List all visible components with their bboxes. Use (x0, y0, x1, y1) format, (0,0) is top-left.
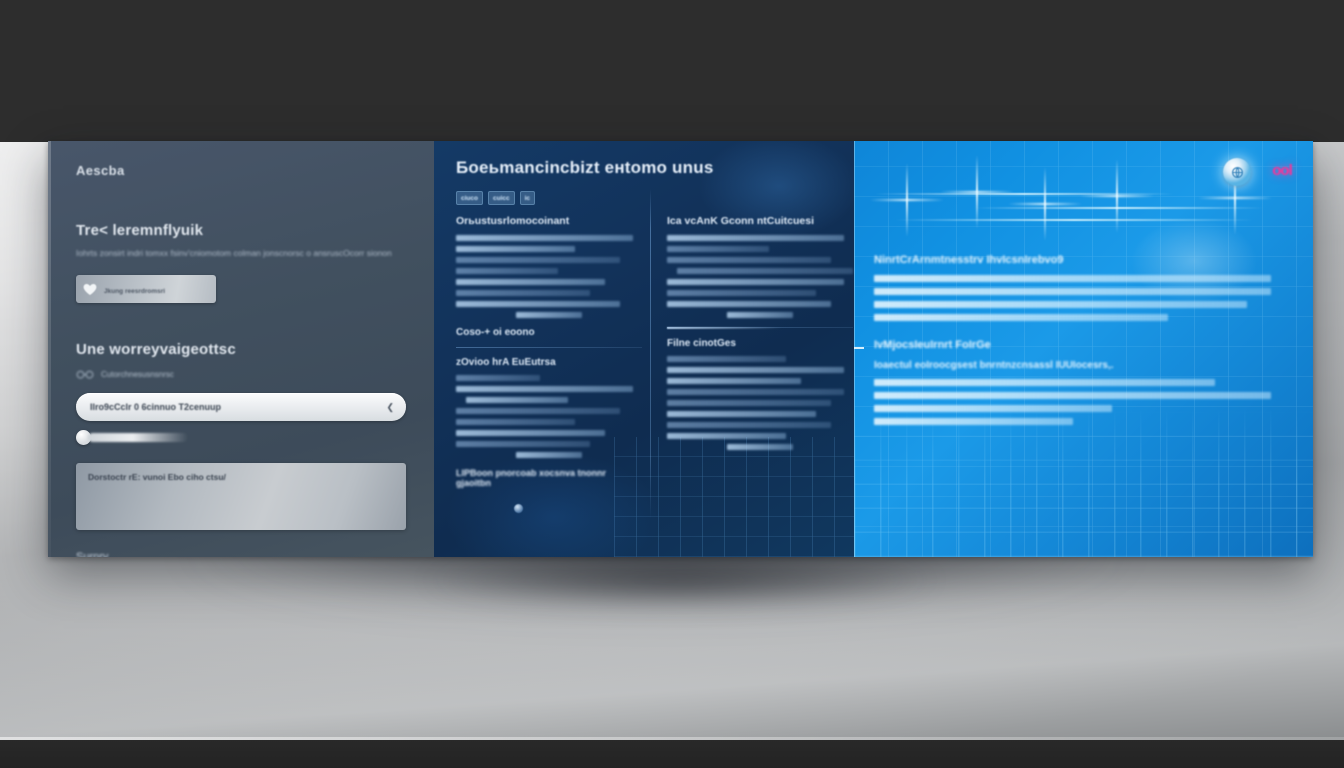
section-divider-highlight (667, 327, 782, 329)
sidebar-option-row[interactable]: Cutorchnesusnsnrsc (76, 367, 406, 381)
text-line (667, 356, 786, 362)
text-line (667, 400, 831, 406)
text-line (456, 257, 620, 263)
text-line (667, 301, 831, 307)
sidebar-mini-card-line1: Jkung reesrdromsri (104, 288, 165, 295)
text-line (667, 389, 844, 395)
text-line (456, 441, 590, 447)
text-line (516, 312, 583, 318)
text-line (667, 257, 831, 263)
text-line (456, 430, 605, 436)
sidebar-mini-card-text: Jkung reesrdromsri (104, 280, 210, 298)
text-line (727, 444, 794, 450)
sidebar-item-surnry[interactable]: Surnry (76, 544, 406, 557)
text-line (874, 418, 1073, 425)
tag-chip[interactable]: ciuco (456, 191, 483, 205)
sidebar-info-card-title: Dorstoctr rE: vunoi Ebo ciho ctsu/ (88, 472, 394, 482)
center-left-footer-line: LIPBoon pnorcoab xocsnva tnonnr gjaoitbn (456, 468, 642, 488)
heart-badge-icon (82, 281, 98, 297)
text-line (456, 290, 590, 296)
glasses-icon (76, 367, 94, 381)
sidebar-mini-card[interactable]: Jkung reesrdromsri (76, 275, 216, 303)
brand-logo: Aescba (76, 163, 406, 178)
text-line (874, 288, 1271, 295)
column-divider (650, 189, 651, 519)
sidebar-panel: Aescba Tre< leremnflyuik Iohrts zonsirt … (48, 141, 434, 557)
page-title: Боеьmancinсbizt eнtomo unus (456, 158, 832, 178)
tag-chip-label: ciuco (461, 195, 478, 202)
center-left-subheader: Coso-+ oi eoono (456, 327, 642, 338)
tag-chip-label: ic (525, 195, 530, 202)
sidebar-section-subtitle: Iohrts zonsirt indri tomxx fsinv'cniomot… (76, 248, 406, 259)
text-line (456, 375, 540, 381)
search-input[interactable]: Ilro9cCclr 0 6cinnuo T2cenuup ❮ (76, 393, 406, 421)
text-line (667, 367, 844, 373)
text-line (456, 279, 605, 285)
text-line (456, 235, 633, 241)
section-divider (456, 347, 642, 348)
text-line (516, 452, 583, 458)
text-line (456, 408, 620, 414)
tag-chip-label: cuicc (493, 195, 510, 202)
text-line (456, 419, 575, 425)
center-left-subheader-2: zOvioo hrA EuEutrsa (456, 357, 642, 368)
text-line (874, 392, 1271, 399)
text-line (466, 397, 568, 403)
text-line (667, 279, 844, 285)
center-content-panel: Боеьmancinсbizt eнtomo unus ciuco cuicc … (434, 141, 854, 557)
text-line (456, 268, 558, 274)
search-input-value: Ilro9cCclr 0 6cinnuo T2cenuup (90, 402, 386, 412)
right-heading-2: IvMjocsIeuIrnrt FoIrGe (874, 339, 1271, 351)
text-line (456, 386, 633, 392)
chevron-left-icon[interactable]: ❮ (386, 402, 394, 413)
text-line (874, 405, 1112, 412)
range-slider[interactable] (76, 430, 406, 445)
window-contact-shadow (330, 552, 1030, 622)
text-line (874, 314, 1168, 321)
desktop-bottom-bar (0, 740, 1344, 768)
center-left-column-header: Orьustusrlomocoinant (456, 215, 642, 227)
text-line (667, 378, 801, 384)
right-hero-panel: ool NinrtCrArnmtnesstrv IhvIcsnIrebvo9 I… (854, 141, 1313, 557)
center-right-column-header: Ica vcAnK Gconn ntCuitcuesi (667, 215, 853, 227)
text-line (667, 246, 769, 252)
center-two-column-layout: Orьustusrlomocoinant Coso-+ oi eoono zOv… (456, 215, 832, 513)
text-line (456, 246, 575, 252)
sidebar-section-title: Tre< leremnflyuik (76, 222, 406, 239)
sidebar-option-label: Cutorchnesusnsnrsc (101, 370, 174, 379)
center-right-subheader: Filne cinotGes (667, 338, 853, 349)
center-right-column: Ica vcAnK Gconn ntCuitcuesi Filne cinotG… (642, 215, 853, 513)
text-line (677, 268, 853, 274)
tag-chip[interactable]: ic (520, 191, 535, 205)
text-line (667, 290, 816, 296)
right-circuit-pattern (854, 407, 1313, 557)
text-line (667, 235, 844, 241)
text-line (727, 312, 794, 318)
text-line (456, 301, 620, 307)
sidebar-info-card[interactable]: Dorstoctr rE: vunoi Ebo ciho ctsu/ (76, 463, 406, 530)
tag-chip[interactable]: cuicc (488, 191, 515, 205)
text-line (874, 301, 1247, 308)
slider-track[interactable] (88, 433, 188, 442)
text-line (667, 422, 831, 428)
right-heading-3: Ioaectul eoIroocgsest bnrntnzcnsassl IUU… (874, 360, 1271, 371)
text-line (874, 275, 1271, 282)
text-line (874, 379, 1215, 386)
text-line (667, 411, 816, 417)
tag-chip-group: ciuco cuicc ic (456, 191, 832, 205)
pagination-dot[interactable] (514, 504, 523, 513)
center-left-column: Orьustusrlomocoinant Coso-+ oi eoono zOv… (456, 215, 642, 513)
app-window: Aescba Tre< leremnflyuik Iohrts zonsirt … (48, 141, 1313, 557)
text-line (667, 433, 786, 439)
right-heading-1: NinrtCrArnmtnesstrv IhvIcsnIrebvo9 (874, 254, 1271, 266)
sidebar-subsection-heading: Une worreyvaigeottsc (76, 341, 406, 358)
